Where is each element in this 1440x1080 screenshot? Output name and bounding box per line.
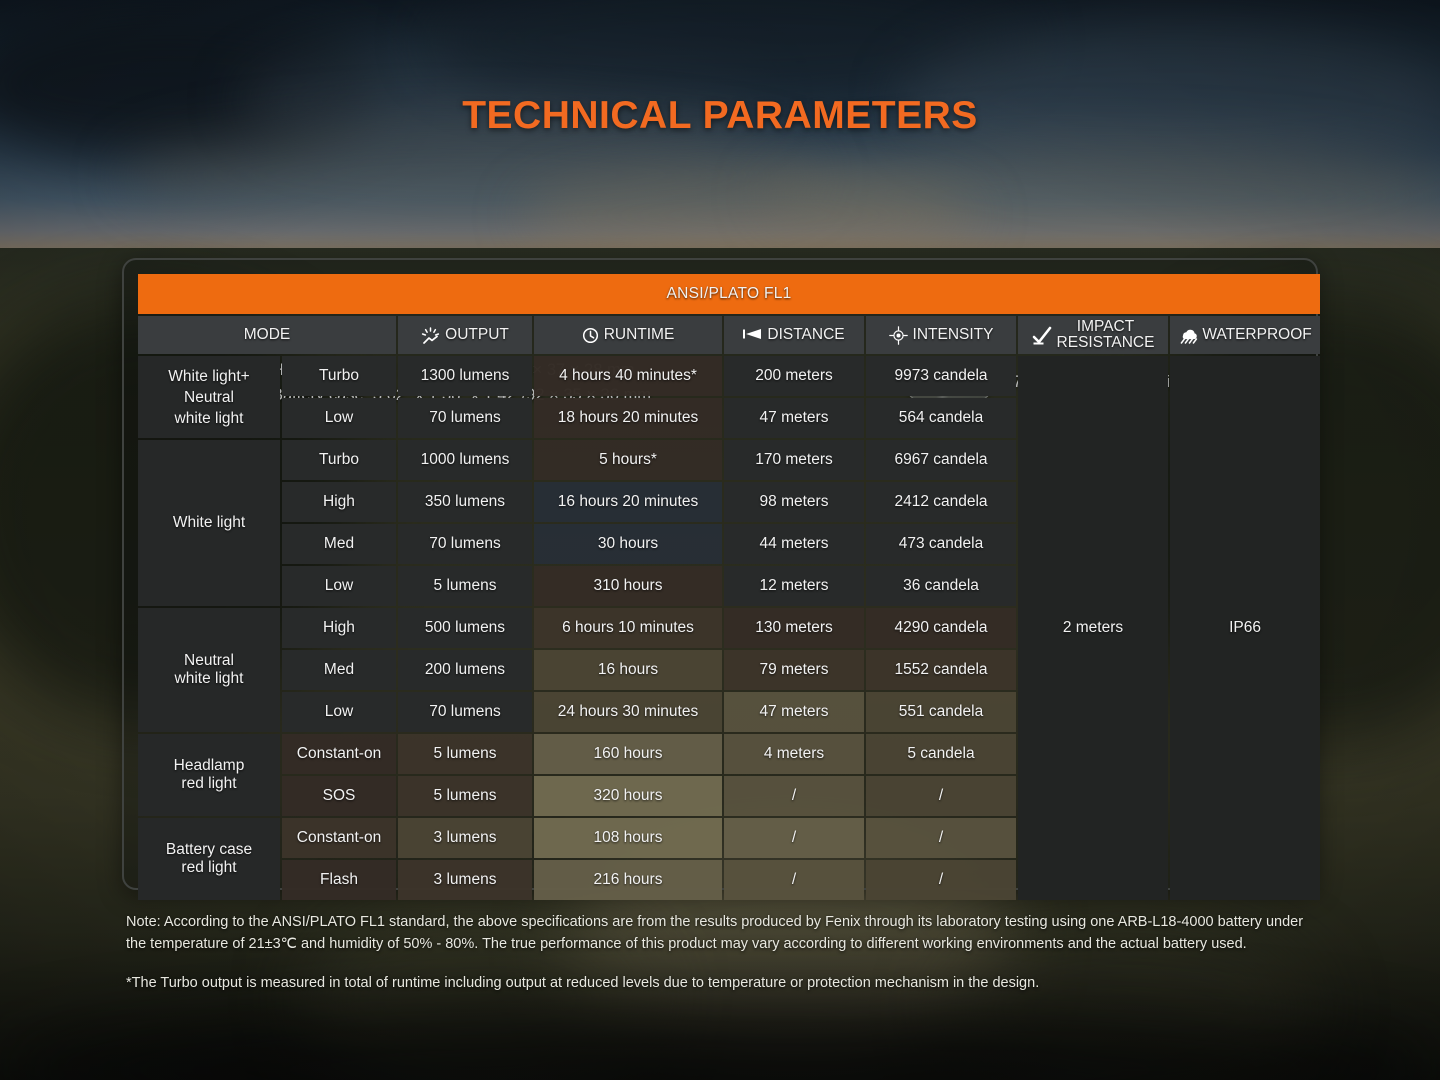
cell-mode: Med bbox=[282, 650, 396, 690]
header-mode: MODE bbox=[138, 316, 396, 354]
light-burst-icon bbox=[421, 327, 440, 344]
header-waterproof: WATERPROOF bbox=[1170, 316, 1320, 354]
crosshair-icon bbox=[889, 326, 908, 345]
cell-runtime: 30 hours bbox=[534, 524, 722, 564]
header-impact-resistance-label: IMPACT RESISTANCE bbox=[1057, 319, 1155, 351]
cell-intensity: 2412 candela bbox=[866, 482, 1016, 522]
check-arrow-icon bbox=[1032, 326, 1052, 345]
cell-impact-resistance: 2 meters bbox=[1018, 356, 1168, 900]
page-title: TECHNICAL PARAMETERS bbox=[0, 94, 1440, 138]
impact-line-1: IMPACT bbox=[1077, 318, 1134, 335]
cell-intensity: / bbox=[866, 818, 1016, 858]
cell-mode: Constant-on bbox=[282, 734, 396, 774]
cell-output: 350 lumens bbox=[398, 482, 532, 522]
cell-runtime: 216 hours bbox=[534, 860, 722, 900]
cell-mode: Low bbox=[282, 692, 396, 732]
cell-distance: 170 meters bbox=[724, 440, 864, 480]
cell-intensity: 36 candela bbox=[866, 566, 1016, 606]
cell-output: 1300 lumens bbox=[398, 356, 532, 396]
cell-runtime: 18 hours 20 minutes bbox=[534, 398, 722, 438]
cell-intensity: 5 candela bbox=[866, 734, 1016, 774]
cell-distance: 130 meters bbox=[724, 608, 864, 648]
cell-runtime: 5 hours* bbox=[534, 440, 722, 480]
footnotes: Note: According to the ANSI/PLATO FL1 st… bbox=[126, 912, 1316, 1013]
cell-output: 3 lumens bbox=[398, 860, 532, 900]
cell-distance: / bbox=[724, 776, 864, 816]
cell-intensity: 473 candela bbox=[866, 524, 1016, 564]
note-turbo-output: *The Turbo output is measured in total o… bbox=[126, 973, 1316, 995]
rain-cloud-icon bbox=[1178, 327, 1199, 344]
header-output-label: OUTPUT bbox=[445, 326, 509, 344]
cell-runtime: 16 hours 20 minutes bbox=[534, 482, 722, 522]
cell-output: 70 lumens bbox=[398, 692, 532, 732]
cell-distance: / bbox=[724, 818, 864, 858]
cell-distance: 98 meters bbox=[724, 482, 864, 522]
cell-distance: 79 meters bbox=[724, 650, 864, 690]
cell-output: 5 lumens bbox=[398, 734, 532, 774]
table-caption: ANSI/PLATO FL1 bbox=[138, 274, 1320, 314]
cell-output: 70 lumens bbox=[398, 398, 532, 438]
cell-intensity: / bbox=[866, 860, 1016, 900]
header-distance: DISTANCE bbox=[724, 316, 864, 354]
cell-mode: Turbo bbox=[282, 356, 396, 396]
header-intensity: INTENSITY bbox=[866, 316, 1016, 354]
group-label: Headlamp red light bbox=[138, 734, 280, 816]
cell-mode: High bbox=[282, 608, 396, 648]
cell-output: 5 lumens bbox=[398, 566, 532, 606]
group-label: Neutral white light bbox=[138, 608, 280, 732]
cell-runtime: 160 hours bbox=[534, 734, 722, 774]
cell-distance: 47 meters bbox=[724, 398, 864, 438]
cell-distance: / bbox=[724, 860, 864, 900]
header-output: OUTPUT bbox=[398, 316, 532, 354]
cell-distance: 200 meters bbox=[724, 356, 864, 396]
group-label: Battery case red light bbox=[138, 818, 280, 900]
group-label: White light+ Neutral white light bbox=[138, 356, 280, 438]
cell-runtime: 16 hours bbox=[534, 650, 722, 690]
cell-distance: 4 meters bbox=[724, 734, 864, 774]
technical-parameters-page: TECHNICAL PARAMETERS Size Headlamp: 2.40… bbox=[0, 0, 1440, 1080]
header-impact-resistance: IMPACT RESISTANCE bbox=[1018, 316, 1168, 354]
cell-mode: SOS bbox=[282, 776, 396, 816]
clock-icon bbox=[582, 327, 599, 344]
cell-mode: Low bbox=[282, 566, 396, 606]
header-mode-label: MODE bbox=[244, 326, 291, 343]
cell-output: 3 lumens bbox=[398, 818, 532, 858]
cell-mode: Constant-on bbox=[282, 818, 396, 858]
note-ansi-standard: Note: According to the ANSI/PLATO FL1 st… bbox=[126, 912, 1316, 955]
specifications-table: ANSI/PLATO FL1 MODE bbox=[136, 272, 1322, 902]
cell-output: 200 lumens bbox=[398, 650, 532, 690]
header-waterproof-label: WATERPROOF bbox=[1202, 326, 1311, 344]
cell-runtime: 320 hours bbox=[534, 776, 722, 816]
cell-intensity: 9973 candela bbox=[866, 356, 1016, 396]
cell-runtime: 6 hours 10 minutes bbox=[534, 608, 722, 648]
cell-runtime: 24 hours 30 minutes bbox=[534, 692, 722, 732]
group-label: White light bbox=[138, 440, 280, 606]
table-row: White light+ Neutral white light Turbo 1… bbox=[138, 356, 1320, 396]
cell-mode: Flash bbox=[282, 860, 396, 900]
cell-distance: 12 meters bbox=[724, 566, 864, 606]
cell-distance: 44 meters bbox=[724, 524, 864, 564]
cell-runtime: 108 hours bbox=[534, 818, 722, 858]
cell-intensity: 6967 candela bbox=[866, 440, 1016, 480]
cell-intensity: / bbox=[866, 776, 1016, 816]
table-caption-row: ANSI/PLATO FL1 bbox=[138, 274, 1320, 314]
cell-intensity: 4290 candela bbox=[866, 608, 1016, 648]
header-distance-label: DISTANCE bbox=[767, 326, 844, 344]
size-weight-row: Size Headlamp: 2.40" x 1.46" x 1.10"/61 … bbox=[0, 178, 1440, 238]
cell-waterproof: IP66 bbox=[1170, 356, 1320, 900]
header-runtime: RUNTIME bbox=[534, 316, 722, 354]
cell-output: 70 lumens bbox=[398, 524, 532, 564]
cell-mode: High bbox=[282, 482, 396, 522]
cell-intensity: 564 candela bbox=[866, 398, 1016, 438]
cell-distance: 47 meters bbox=[724, 692, 864, 732]
cell-intensity: 1552 candela bbox=[866, 650, 1016, 690]
impact-line-2: RESISTANCE bbox=[1057, 334, 1155, 351]
cell-mode: Med bbox=[282, 524, 396, 564]
cell-runtime: 310 hours bbox=[534, 566, 722, 606]
beam-cone-icon bbox=[743, 328, 762, 343]
cell-mode: Turbo bbox=[282, 440, 396, 480]
cell-output: 500 lumens bbox=[398, 608, 532, 648]
cell-output: 5 lumens bbox=[398, 776, 532, 816]
cell-runtime: 4 hours 40 minutes* bbox=[534, 356, 722, 396]
cell-output: 1000 lumens bbox=[398, 440, 532, 480]
header-intensity-label: INTENSITY bbox=[913, 326, 994, 344]
header-runtime-label: RUNTIME bbox=[604, 326, 675, 344]
cell-intensity: 551 candela bbox=[866, 692, 1016, 732]
table-header-row: MODE bbox=[138, 316, 1320, 354]
cell-mode: Low bbox=[282, 398, 396, 438]
specifications-panel: ANSI/PLATO FL1 MODE bbox=[122, 258, 1318, 890]
